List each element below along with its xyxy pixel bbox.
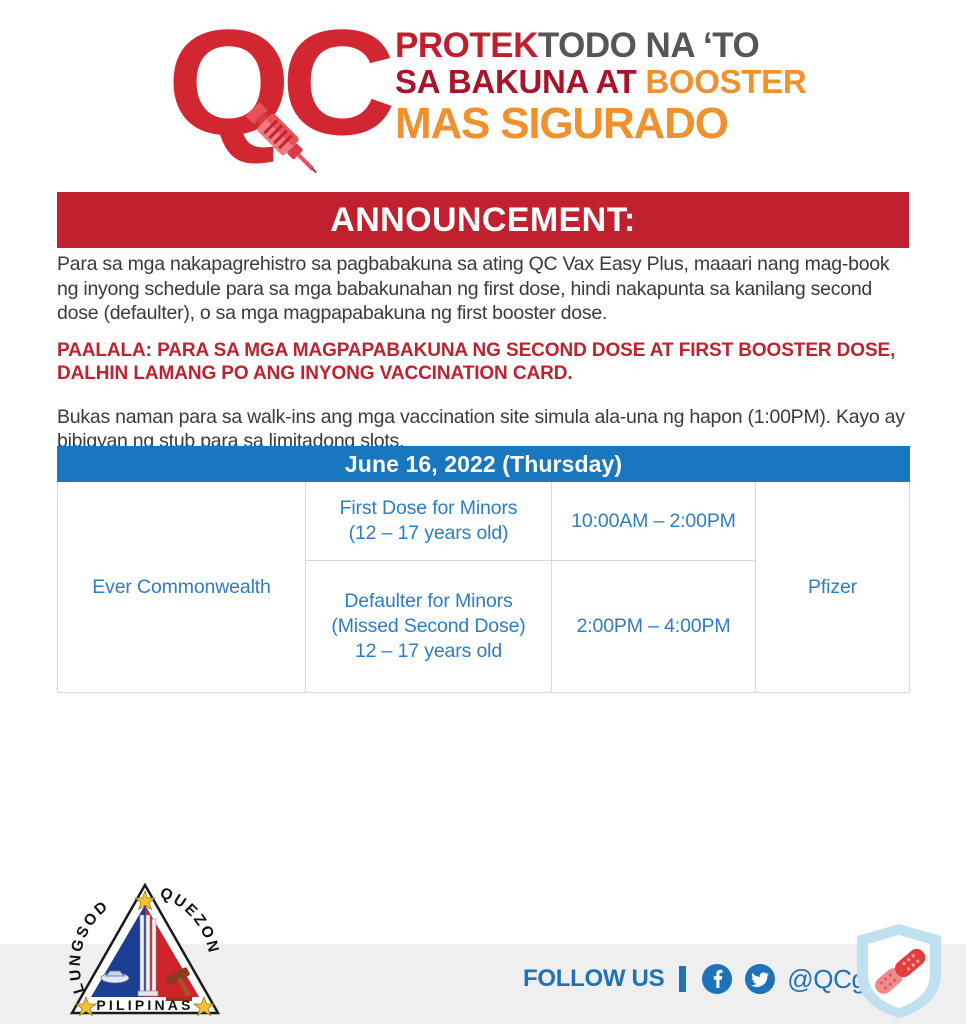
follow-us-block: FOLLOW US @QCgov bbox=[523, 963, 892, 995]
follow-divider bbox=[679, 966, 686, 992]
cell-vaccine-brand: Pfizer bbox=[756, 482, 910, 693]
tagline-line-3: MAS SIGURADO bbox=[395, 100, 799, 147]
tagline-line-2: SA BAKUNA AT BOOSTER bbox=[395, 64, 799, 100]
qc-wordmark: QC bbox=[167, 26, 379, 154]
schedule-table: June 16, 2022 (Thursday) Ever Commonweal… bbox=[57, 446, 909, 693]
tagline-sa-bakuna-at: SA BAKUNA AT bbox=[395, 63, 645, 100]
cell-dose-type: First Dose for Minors (12 – 17 years old… bbox=[306, 482, 552, 561]
twitter-icon[interactable] bbox=[744, 963, 776, 995]
cell-dose-type: Defaulter for Minors (Missed Second Dose… bbox=[306, 561, 552, 693]
seal-bottom-text: PILIPINAS bbox=[96, 997, 193, 1013]
quezon-city-seal: LUNGSOD QUEZON PILIPINAS bbox=[66, 879, 224, 1024]
syringe-icon bbox=[223, 78, 333, 188]
table-row: Ever Commonwealth First Dose for Minors … bbox=[58, 482, 910, 561]
dose-type-line-3: 12 – 17 years old bbox=[312, 639, 545, 664]
follow-us-label: FOLLOW US bbox=[523, 965, 664, 993]
qc-logo: QC PROTEKTODO NA ‘TO bbox=[167, 26, 799, 154]
tagline-block: PROTEKTODO NA ‘TO SA BAKUNA AT BOOSTER M… bbox=[395, 27, 799, 153]
tagline-protek: PROTEK bbox=[395, 26, 538, 65]
dose-type-line-1: Defaulter for Minors bbox=[312, 589, 545, 614]
header-logo-banner: QC PROTEKTODO NA ‘TO bbox=[0, 0, 966, 180]
announcement-title: ANNOUNCEMENT: bbox=[330, 201, 636, 240]
tagline-todo-na-to: TODO NA ‘TO bbox=[538, 26, 759, 65]
announcement-banner: ANNOUNCEMENT: bbox=[57, 192, 909, 248]
cell-time: 2:00PM – 4:00PM bbox=[552, 561, 756, 693]
intro-paragraph: Para sa mga nakapagrehistro sa pagbabaku… bbox=[57, 252, 913, 326]
table-header-row: June 16, 2022 (Thursday) bbox=[58, 447, 910, 482]
dose-type-line-2: (12 – 17 years old) bbox=[312, 521, 545, 546]
dose-type-line-1: First Dose for Minors bbox=[312, 496, 545, 521]
cell-site: Ever Commonwealth bbox=[58, 482, 306, 693]
tagline-booster: BOOSTER bbox=[645, 63, 806, 100]
tagline-line-1: PROTEKTODO NA ‘TO bbox=[395, 27, 799, 64]
shield-bandage-icon bbox=[849, 918, 949, 1024]
cell-time: 10:00AM – 2:00PM bbox=[552, 482, 756, 561]
schedule-date-header: June 16, 2022 (Thursday) bbox=[58, 447, 910, 482]
facebook-icon[interactable] bbox=[701, 963, 733, 995]
body-copy: Para sa mga nakapagrehistro sa pagbabaku… bbox=[57, 252, 913, 479]
warning-paragraph: PAALALA: PARA SA MGA MAGPAPABAKUNA NG SE… bbox=[57, 339, 913, 385]
dose-type-line-2: (Missed Second Dose) bbox=[312, 614, 545, 639]
